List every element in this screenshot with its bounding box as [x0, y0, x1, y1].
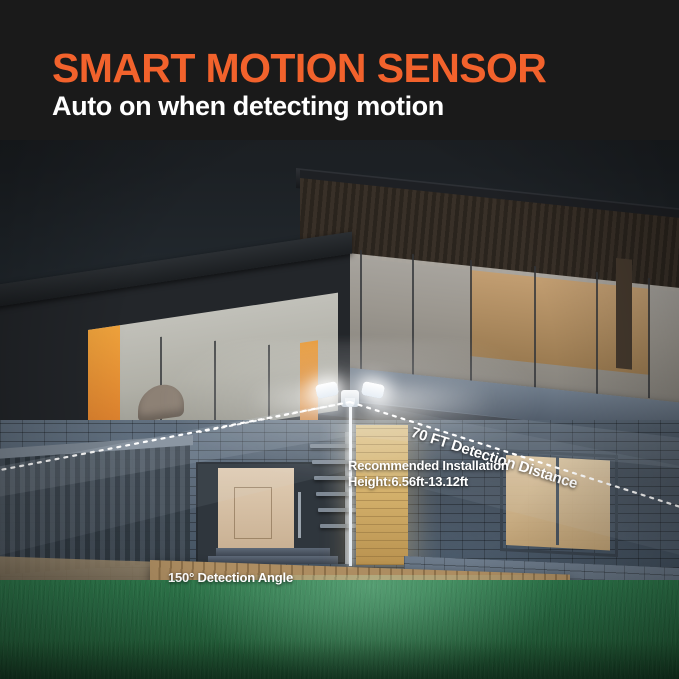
lawn-foreground-shadow	[0, 640, 679, 679]
product-feature-image: 70 FT Detection Distance Recommended Ins…	[0, 0, 679, 679]
light-beam-right	[370, 386, 490, 416]
page-subtitle: Auto on when detecting motion	[52, 91, 444, 122]
door-panel	[234, 487, 272, 539]
window-mullion	[596, 272, 598, 398]
installation-height-label: Recommended Installation Height:6.56ft-1…	[348, 458, 509, 490]
door-handle	[298, 492, 301, 538]
header-band: SMART MOTION SENSOR Auto on when detecti…	[0, 0, 679, 140]
entry-step	[216, 548, 330, 556]
installation-height-line-1: Recommended Installation	[348, 458, 509, 474]
installation-height-line-2: Height:6.56ft-13.12ft	[348, 474, 509, 490]
page-title: SMART MOTION SENSOR	[52, 45, 546, 92]
window-mullion	[648, 278, 650, 398]
right-wing-interior-column	[616, 258, 632, 370]
detection-angle-label: 150° Detection Angle	[168, 570, 293, 585]
